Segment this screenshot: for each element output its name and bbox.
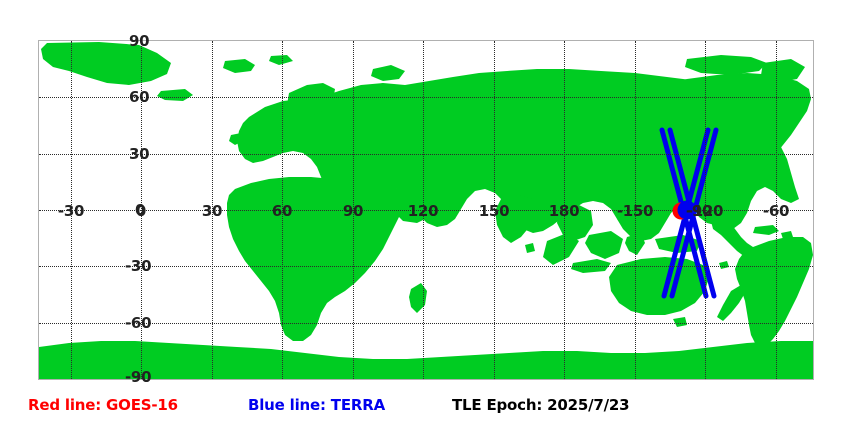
sri-lanka [525, 243, 535, 253]
lat-label--60: -60 [125, 314, 151, 332]
australia [609, 257, 709, 315]
novaya-zemlya [371, 65, 405, 81]
sumatra [543, 233, 579, 265]
lon-label-180: 180 [549, 202, 579, 220]
new-zealand [717, 285, 745, 321]
lat-label-60: 60 [129, 88, 149, 106]
legend-terra: Blue line: TERRA [248, 396, 385, 414]
java [571, 259, 611, 273]
lon-label--60: -60 [763, 202, 789, 220]
lon-label--90: -90 [686, 202, 712, 220]
africa [227, 177, 405, 341]
lon-label-60: 60 [272, 202, 292, 220]
sulawesi [625, 233, 645, 255]
arctic-islet-a [269, 55, 293, 65]
greenland [41, 42, 171, 85]
south-america [735, 237, 813, 347]
map-legend: Red line: GOES-16 Blue line: TERRA TLE E… [0, 396, 850, 420]
lat-label--90: -90 [125, 368, 151, 386]
lat-label-90: 90 [129, 32, 149, 50]
lon-label-120: 120 [408, 202, 438, 220]
lat-label-0: 0 [135, 201, 145, 219]
legend-tle-epoch: TLE Epoch: 2025/7/23 [452, 396, 629, 414]
madagascar [409, 283, 427, 313]
cuba [753, 225, 779, 235]
legend-goes-16: Red line: GOES-16 [28, 396, 178, 414]
lon-label--30: -30 [58, 202, 84, 220]
canadian-arctic [685, 55, 767, 75]
antarctica [39, 341, 813, 379]
world-map: -30 0 30 60 90 120 150 180 -150 -120 -90… [38, 40, 814, 380]
iceland [157, 89, 193, 101]
lon-label-90: 90 [343, 202, 363, 220]
borneo [585, 231, 623, 259]
pacific-islet-a [719, 261, 729, 269]
lon-label--150: -150 [617, 202, 653, 220]
new-guinea [655, 235, 701, 253]
lon-label-150: 150 [479, 202, 509, 220]
lat-label--30: -30 [125, 257, 151, 275]
lon-label-30: 30 [202, 202, 222, 220]
svalbard [223, 59, 255, 73]
tasmania [673, 317, 687, 327]
lat-label-30: 30 [129, 145, 149, 163]
